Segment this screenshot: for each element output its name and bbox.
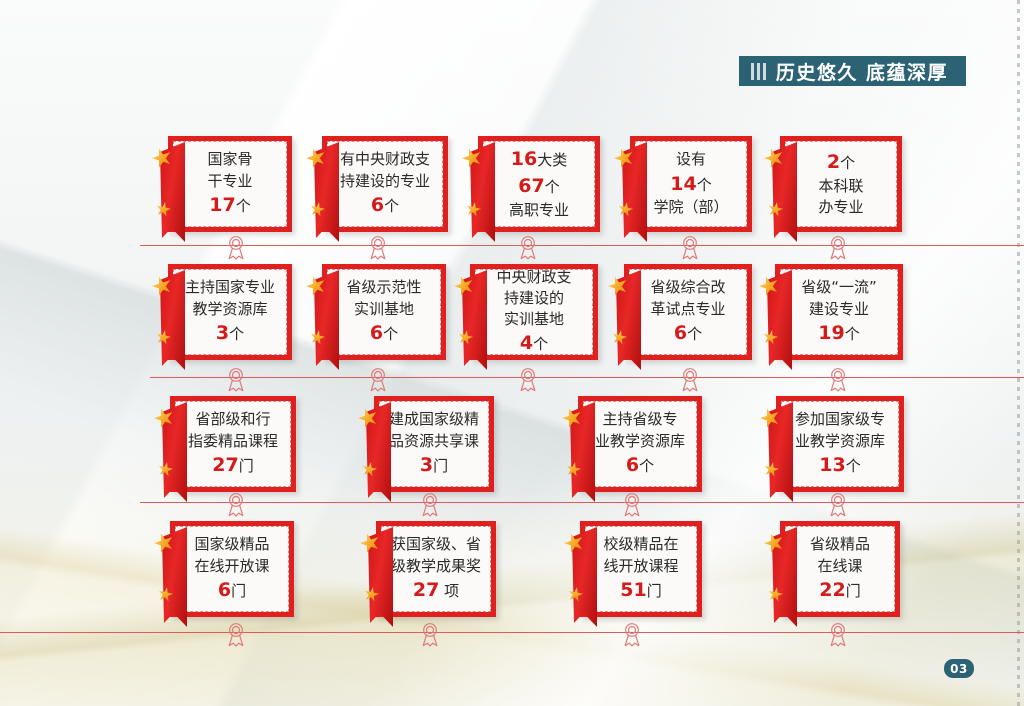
stat-card-line: 主持省级专 bbox=[602, 409, 677, 430]
stat-card: 校级精品在线开放课程51门 bbox=[580, 521, 702, 617]
stat-label: 省部级和行 bbox=[195, 410, 270, 428]
stat-label: 在线课 bbox=[817, 557, 862, 575]
stat-label: 线开放课程 bbox=[603, 557, 678, 575]
stat-card-body: 有中央财政支持建设的专业6个 bbox=[327, 141, 443, 227]
stat-label: 省级精品 bbox=[810, 535, 870, 553]
stat-card-line: 有中央财政支 bbox=[340, 149, 430, 170]
gold-star-icon bbox=[611, 145, 636, 170]
stat-label: 建设专业 bbox=[809, 300, 869, 318]
award-medal-icon bbox=[225, 234, 247, 260]
stat-card-line: 建设专业 bbox=[809, 299, 869, 320]
stat-label: 个 bbox=[545, 178, 560, 196]
stat-label: 国家级精品 bbox=[194, 535, 269, 553]
stat-card-line: 27 项 bbox=[413, 577, 459, 604]
stat-card-line: 实训基地 bbox=[504, 309, 564, 330]
stat-card: 省级示范性实训基地6个 bbox=[322, 264, 446, 360]
stat-card: 国家骨干专业17个 bbox=[168, 136, 292, 232]
stat-card-line: 高职专业 bbox=[509, 200, 569, 221]
stat-label: 个 bbox=[236, 197, 251, 215]
stat-card-body: 设有14个学院（部） bbox=[635, 141, 747, 227]
stat-card-line: 业教学资源库 bbox=[795, 431, 885, 452]
stat-card-line: 19个 bbox=[818, 320, 859, 347]
gold-star-icon bbox=[761, 145, 786, 170]
page-number-badge: 03 bbox=[944, 659, 974, 678]
separator-line bbox=[140, 245, 1024, 246]
stat-value: 3 bbox=[216, 322, 229, 344]
stat-card-line: 业教学资源库 bbox=[595, 431, 685, 452]
gold-star-icon bbox=[157, 461, 175, 479]
stat-card-body: 校级精品在线开放课程51门 bbox=[585, 526, 697, 612]
award-medal-icon bbox=[827, 234, 849, 260]
stat-label: 实训基地 bbox=[354, 300, 414, 318]
gold-star-icon bbox=[357, 530, 382, 555]
stat-card-line: 中央财政支 bbox=[496, 267, 571, 288]
stat-value: 4 bbox=[520, 332, 533, 354]
gold-star-icon bbox=[151, 405, 176, 430]
award-medal-icon bbox=[225, 621, 247, 647]
gold-star-icon bbox=[756, 273, 781, 298]
award-medal-icon bbox=[367, 366, 389, 392]
stat-label: 门 bbox=[846, 582, 861, 600]
stat-label: 个 bbox=[533, 335, 548, 353]
award-medal-icon bbox=[367, 234, 389, 260]
stat-card-line: 省部级和行 bbox=[195, 409, 270, 430]
stat-card: 2个本科联办专业 bbox=[780, 136, 902, 232]
stat-label: 持建设的专业 bbox=[340, 172, 430, 190]
stat-card-line: 持建设的专业 bbox=[340, 171, 430, 192]
stat-label: 个 bbox=[383, 325, 398, 343]
stat-card-body: 省级综合改革试点专业6个 bbox=[629, 269, 747, 355]
stat-label: 门 bbox=[647, 582, 662, 600]
stat-label: 门 bbox=[239, 457, 254, 475]
separator-1 bbox=[0, 245, 1024, 246]
stat-card-body: 国家骨干专业17个 bbox=[173, 141, 287, 227]
stat-card-line: 3门 bbox=[420, 452, 448, 479]
award-medal-icon bbox=[827, 366, 849, 392]
stat-value: 27 bbox=[212, 454, 238, 476]
stat-label: 省级“一流” bbox=[801, 278, 877, 296]
stat-label: 门 bbox=[231, 582, 246, 600]
award-medal-icon bbox=[419, 621, 441, 647]
gold-star-icon bbox=[457, 329, 475, 347]
stat-card-line: 3个 bbox=[216, 320, 244, 347]
stat-row-4: 国家级精品在线开放课6门获国家级、省级教学成果奖27 项校级精品在线开放课程51… bbox=[0, 521, 1024, 617]
award-medal-icon bbox=[225, 491, 247, 517]
award-medal-icon bbox=[827, 491, 849, 517]
stat-card-line: 办专业 bbox=[818, 197, 863, 218]
separator-line bbox=[140, 502, 1024, 503]
gold-star-icon bbox=[762, 329, 780, 347]
stat-label: 指委精品课程 bbox=[188, 432, 278, 450]
gold-star-icon bbox=[565, 461, 583, 479]
separator-line bbox=[0, 632, 1024, 633]
stat-card: 国家级精品在线开放课6门 bbox=[170, 521, 294, 617]
stat-row-2-cards: 主持国家专业教学资源库3个省级示范性实训基地6个中央财政支持建设的实训基地4个省… bbox=[0, 264, 1024, 360]
stat-card-line: 6个 bbox=[370, 320, 398, 347]
award-medal-icon bbox=[679, 234, 701, 260]
stat-card-body: 省级精品在线课22门 bbox=[785, 526, 895, 612]
stat-value: 51 bbox=[620, 579, 646, 601]
award-medal-icon bbox=[827, 621, 849, 647]
stat-card-body: 国家级精品在线开放课6门 bbox=[175, 526, 289, 612]
stat-label: 个 bbox=[840, 154, 855, 172]
stat-card: 主持省级专业教学资源库6个 bbox=[578, 396, 702, 492]
stat-card-line: 13个 bbox=[819, 452, 860, 479]
stat-card-line: 14个 bbox=[670, 171, 711, 198]
stat-card-line: 实训基地 bbox=[354, 299, 414, 320]
stat-card-line: 品资源共享课 bbox=[389, 431, 479, 452]
stat-label: 个 bbox=[229, 325, 244, 343]
stat-card: 省部级和行指委精品课程27门 bbox=[170, 396, 296, 492]
stat-card: 省级精品在线课22门 bbox=[780, 521, 900, 617]
stat-label: 业教学资源库 bbox=[795, 432, 885, 450]
stat-label: 个 bbox=[697, 176, 712, 194]
stat-card-line: 在线课 bbox=[817, 556, 862, 577]
stat-card: 16大类67个高职专业 bbox=[478, 136, 600, 232]
stat-card-line: 17个 bbox=[209, 192, 250, 219]
stat-label: 持建设的 bbox=[504, 289, 564, 307]
page-root: 历史悠久 底蕴深厚 国家骨干专业17个有中央财政支持建设的专业6个16大类67个… bbox=[0, 0, 1024, 706]
stat-card-line: 27门 bbox=[212, 452, 253, 479]
stat-label: 业教学资源库 bbox=[595, 432, 685, 450]
stat-label: 学院（部） bbox=[653, 198, 728, 216]
stat-card-line: 建成国家级精 bbox=[389, 409, 479, 430]
award-medal-icon bbox=[517, 366, 539, 392]
separator-3 bbox=[0, 502, 1024, 503]
banner-bars-icon bbox=[739, 56, 776, 86]
stat-value: 67 bbox=[518, 175, 544, 197]
stat-card-line: 获国家级、省 bbox=[391, 534, 481, 555]
stat-row-2: 主持国家专业教学资源库3个省级示范性实训基地6个中央财政支持建设的实训基地4个省… bbox=[0, 264, 1024, 360]
stat-row-3-cards: 省部级和行指委精品课程27门建成国家级精品资源共享课3门主持省级专业教学资源库6… bbox=[0, 396, 1024, 492]
stat-card-line: 省级综合改 bbox=[650, 277, 725, 298]
stat-card-line: 参加国家级专 bbox=[795, 409, 885, 430]
award-medal-icon bbox=[621, 621, 643, 647]
stat-card-line: 2个 bbox=[827, 149, 855, 176]
stat-card-line: 省级“一流” bbox=[801, 277, 877, 298]
stat-value: 19 bbox=[818, 322, 844, 344]
stat-card-line: 22门 bbox=[819, 577, 860, 604]
stat-card-body: 获国家级、省级教学成果奖27 项 bbox=[381, 526, 491, 612]
stat-card: 中央财政支持建设的实训基地4个 bbox=[470, 264, 598, 360]
stat-card-line: 持建设的 bbox=[504, 288, 564, 309]
gold-star-icon bbox=[361, 461, 379, 479]
stat-label: 在线开放课 bbox=[194, 557, 269, 575]
stat-card: 设有14个学院（部） bbox=[630, 136, 752, 232]
stat-card-line: 指委精品课程 bbox=[188, 431, 278, 452]
stat-card-body: 16大类67个高职专业 bbox=[483, 141, 595, 227]
gold-star-icon bbox=[559, 405, 584, 430]
stat-label: 获国家级、省 bbox=[391, 535, 481, 553]
gold-star-icon bbox=[611, 329, 629, 347]
stat-card-line: 6个 bbox=[626, 452, 654, 479]
stat-label: 个 bbox=[639, 457, 654, 475]
stat-card: 参加国家级专业教学资源库13个 bbox=[776, 396, 904, 492]
stat-card-body: 建成国家级精品资源共享课3门 bbox=[379, 401, 489, 487]
gold-star-icon bbox=[303, 145, 328, 170]
stat-label: 校级精品在 bbox=[603, 535, 678, 553]
stat-label: 干专业 bbox=[207, 172, 252, 190]
stat-card-line: 4个 bbox=[520, 330, 548, 357]
separator-line bbox=[150, 377, 1024, 378]
stat-card-line: 主持国家专业 bbox=[185, 277, 275, 298]
stat-card-line: 教学资源库 bbox=[192, 299, 267, 320]
stat-label: 革试点专业 bbox=[650, 300, 725, 318]
stat-value: 16 bbox=[511, 148, 537, 170]
stat-row-1: 国家骨干专业17个有中央财政支持建设的专业6个16大类67个高职专业设有14个学… bbox=[0, 136, 1024, 232]
stat-label: 品资源共享课 bbox=[389, 432, 479, 450]
gold-star-icon bbox=[465, 201, 483, 219]
stat-row-1-cards: 国家骨干专业17个有中央财政支持建设的专业6个16大类67个高职专业设有14个学… bbox=[0, 136, 1024, 232]
gold-star-icon bbox=[767, 201, 785, 219]
stat-label: 主持国家专业 bbox=[185, 278, 275, 296]
stat-card-body: 省级示范性实训基地6个 bbox=[327, 269, 441, 355]
stat-card-line: 设有 bbox=[676, 149, 706, 170]
stat-card-line: 级教学成果奖 bbox=[391, 556, 481, 577]
gold-star-icon bbox=[617, 201, 635, 219]
stat-value: 6 bbox=[371, 194, 384, 216]
stat-card: 省级“一流”建设专业19个 bbox=[775, 264, 903, 360]
stat-card-line: 干专业 bbox=[207, 171, 252, 192]
stat-card-line: 国家骨 bbox=[207, 149, 252, 170]
stat-row-3: 省部级和行指委精品课程27门建成国家级精品资源共享课3门主持省级专业教学资源库6… bbox=[0, 396, 1024, 492]
stat-value: 6 bbox=[218, 579, 231, 601]
stat-value: 2 bbox=[827, 151, 840, 173]
stat-value: 22 bbox=[819, 579, 845, 601]
gold-star-icon bbox=[309, 329, 327, 347]
stat-value: 6 bbox=[370, 322, 383, 344]
gold-star-icon bbox=[355, 405, 380, 430]
stat-label: 高职专业 bbox=[509, 201, 569, 219]
stat-label: 个 bbox=[384, 197, 399, 215]
stat-label: 设有 bbox=[676, 150, 706, 168]
section-header-banner: 历史悠久 底蕴深厚 bbox=[739, 56, 966, 86]
gold-star-icon bbox=[459, 145, 484, 170]
separator-2 bbox=[0, 377, 1024, 378]
stat-label: 大类 bbox=[537, 151, 567, 169]
gold-star-icon bbox=[151, 530, 176, 555]
gold-star-icon bbox=[567, 586, 585, 604]
stat-label: 建成国家级精 bbox=[389, 410, 479, 428]
stat-card-line: 国家级精品 bbox=[194, 534, 269, 555]
stat-label: 中央财政支 bbox=[496, 268, 571, 286]
stat-label: 门 bbox=[433, 457, 448, 475]
award-medal-icon bbox=[517, 234, 539, 260]
award-medal-icon bbox=[225, 366, 247, 392]
stat-card-line: 在线开放课 bbox=[194, 556, 269, 577]
stat-card: 有中央财政支持建设的专业6个 bbox=[322, 136, 448, 232]
stat-card-body: 主持省级专业教学资源库6个 bbox=[583, 401, 697, 487]
stat-card-line: 线开放课程 bbox=[603, 556, 678, 577]
stat-card-line: 6个 bbox=[371, 192, 399, 219]
stat-value: 6 bbox=[674, 322, 687, 344]
stat-label: 个 bbox=[846, 457, 861, 475]
stat-card-body: 2个本科联办专业 bbox=[785, 141, 897, 227]
stat-card-body: 参加国家级专业教学资源库13个 bbox=[781, 401, 899, 487]
stat-card-line: 51门 bbox=[620, 577, 661, 604]
stat-label: 个 bbox=[687, 325, 702, 343]
separator-4 bbox=[0, 632, 1024, 633]
stat-label: 教学资源库 bbox=[192, 300, 267, 318]
stat-card-line: 16大类 bbox=[511, 146, 567, 173]
gold-star-icon bbox=[363, 586, 381, 604]
gold-star-icon bbox=[309, 201, 327, 219]
award-medal-icon bbox=[679, 366, 701, 392]
stat-card-line: 革试点专业 bbox=[650, 299, 725, 320]
stat-label: 项 bbox=[439, 582, 459, 600]
stat-card-line: 6个 bbox=[674, 320, 702, 347]
stat-card-line: 本科联 bbox=[818, 176, 863, 197]
stat-value: 27 bbox=[413, 579, 439, 601]
gold-star-icon bbox=[149, 145, 174, 170]
gold-star-icon bbox=[561, 530, 586, 555]
stat-value: 3 bbox=[420, 454, 433, 476]
stat-label: 个 bbox=[845, 325, 860, 343]
stat-card-body: 中央财政支持建设的实训基地4个 bbox=[475, 269, 593, 355]
stat-value: 6 bbox=[626, 454, 639, 476]
stat-card: 省级综合改革试点专业6个 bbox=[624, 264, 752, 360]
award-medal-icon bbox=[419, 491, 441, 517]
stat-value: 14 bbox=[670, 173, 696, 195]
stat-card-line: 学院（部） bbox=[653, 197, 728, 218]
gold-star-icon bbox=[303, 273, 328, 298]
stat-card: 建成国家级精品资源共享课3门 bbox=[374, 396, 494, 492]
stat-label: 本科联 bbox=[818, 177, 863, 195]
stat-card-line: 校级精品在 bbox=[603, 534, 678, 555]
gold-star-icon bbox=[761, 530, 786, 555]
stat-label: 有中央财政支 bbox=[340, 150, 430, 168]
stat-label: 省级示范性 bbox=[346, 278, 421, 296]
stat-label: 办专业 bbox=[818, 198, 863, 216]
gold-star-icon bbox=[757, 405, 782, 430]
stat-label: 国家骨 bbox=[207, 150, 252, 168]
page-title: 历史悠久 底蕴深厚 bbox=[776, 56, 948, 86]
stat-card-line: 6门 bbox=[218, 577, 246, 604]
stat-value: 17 bbox=[209, 194, 235, 216]
gold-star-icon bbox=[155, 329, 173, 347]
stat-card-line: 省级示范性 bbox=[346, 277, 421, 298]
gold-star-icon bbox=[763, 461, 781, 479]
stat-card-body: 主持国家专业教学资源库3个 bbox=[173, 269, 287, 355]
stat-label: 实训基地 bbox=[504, 310, 564, 328]
gold-star-icon bbox=[157, 586, 175, 604]
gold-star-icon bbox=[155, 201, 173, 219]
stat-label: 省级综合改 bbox=[650, 278, 725, 296]
stat-label: 主持省级专 bbox=[602, 410, 677, 428]
stat-card-line: 省级精品 bbox=[810, 534, 870, 555]
stat-card-line: 67个 bbox=[518, 173, 559, 200]
stat-label: 参加国家级专 bbox=[795, 410, 885, 428]
stat-card-body: 省级“一流”建设专业19个 bbox=[780, 269, 898, 355]
gold-star-icon bbox=[605, 273, 630, 298]
stat-card: 主持国家专业教学资源库3个 bbox=[168, 264, 292, 360]
gold-star-icon bbox=[149, 273, 174, 298]
stat-card: 获国家级、省级教学成果奖27 项 bbox=[376, 521, 496, 617]
gold-star-icon bbox=[451, 273, 476, 298]
stat-card-body: 省部级和行指委精品课程27门 bbox=[175, 401, 291, 487]
stat-row-4-cards: 国家级精品在线开放课6门获国家级、省级教学成果奖27 项校级精品在线开放课程51… bbox=[0, 521, 1024, 617]
stat-label: 级教学成果奖 bbox=[391, 557, 481, 575]
award-medal-icon bbox=[621, 491, 643, 517]
stat-value: 13 bbox=[819, 454, 845, 476]
gold-star-icon bbox=[767, 586, 785, 604]
